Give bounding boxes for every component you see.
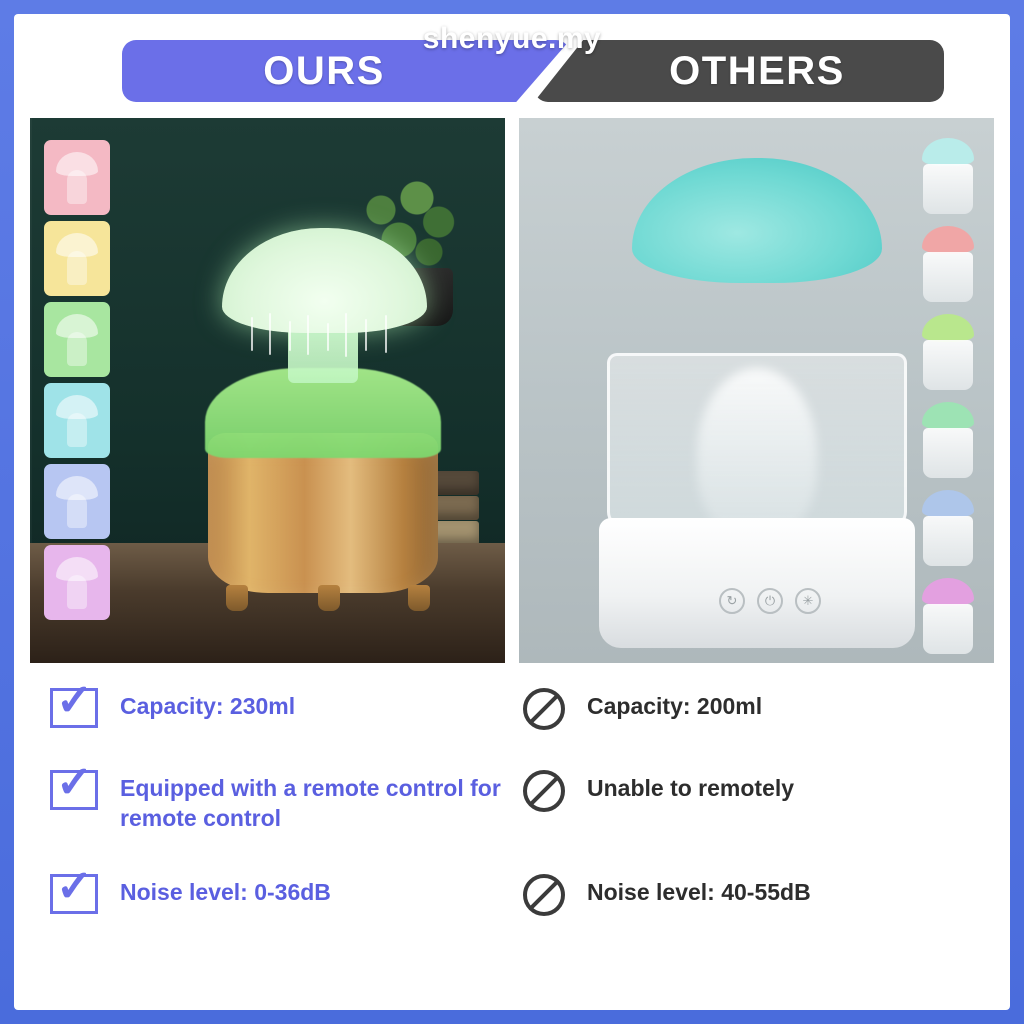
watermark-text: shenyue.my <box>423 22 601 56</box>
others-feature-3: Noise level: 40-55dB <box>501 872 974 916</box>
mini-unit-mint <box>912 402 984 482</box>
others-button-power-icon: ⏻ <box>757 588 783 614</box>
comparison-row: ✓ Equipped with a remote control for rem… <box>50 768 974 834</box>
ours-color-swatches <box>44 140 110 620</box>
base-foot-left <box>226 585 248 611</box>
comparison-card: OURS OTHERS shenyue.my <box>14 14 1010 1010</box>
others-feature-2: Unable to remotely <box>501 768 974 834</box>
others-color-swatches <box>912 138 984 658</box>
ours-feature-3: ✓ Noise level: 0-36dB <box>50 872 501 916</box>
others-base <box>599 518 915 648</box>
others-feature-1: Capacity: 200ml <box>501 686 974 730</box>
others-water-tank <box>607 353 907 528</box>
mini-unit-blue <box>912 490 984 570</box>
ban-icon <box>523 874 565 916</box>
ban-icon <box>523 688 565 730</box>
swatch-purple <box>44 545 110 620</box>
ours-feature-2: ✓ Equipped with a remote control for rem… <box>50 768 501 834</box>
swatch-cyan <box>44 383 110 458</box>
page-root: OURS OTHERS shenyue.my <box>0 0 1024 1024</box>
ours-product-photo <box>30 118 505 663</box>
mini-unit-lime <box>912 314 984 394</box>
ours-banner-label: OURS <box>263 49 385 94</box>
others-feature-2-label: Unable to remotely <box>587 768 794 803</box>
ours-feature-1: ✓ Capacity: 230ml <box>50 686 501 730</box>
mini-unit-cyan <box>912 138 984 218</box>
comparison-row: ✓ Capacity: 230ml Capacity: 200ml <box>50 686 974 730</box>
swatch-yellow <box>44 221 110 296</box>
photo-row: ↻ ⏻ ✳ <box>20 118 1004 663</box>
mini-unit-magenta <box>912 578 984 658</box>
ours-feature-2-label: Equipped with a remote control for remot… <box>120 768 501 834</box>
comparison-row: ✓ Noise level: 0-36dB Noise level: 40-55… <box>50 872 974 916</box>
rain-drops <box>245 313 405 373</box>
base-foot-right <box>408 585 430 611</box>
mini-unit-red <box>912 226 984 306</box>
check-icon: ✓ <box>50 770 98 810</box>
ours-feature-3-label: Noise level: 0-36dB <box>120 872 331 907</box>
others-cloud-cap <box>632 158 882 283</box>
check-icon: ✓ <box>50 688 98 728</box>
others-button-light-icon: ✳ <box>795 588 821 614</box>
others-button-mist-icon: ↻ <box>719 588 745 614</box>
others-banner-label: OTHERS <box>669 49 845 94</box>
ban-icon <box>523 770 565 812</box>
check-icon: ✓ <box>50 874 98 914</box>
swatch-green <box>44 302 110 377</box>
ours-feature-1-label: Capacity: 230ml <box>120 686 295 721</box>
swatch-pink <box>44 140 110 215</box>
others-product-photo: ↻ ⏻ ✳ <box>519 118 994 663</box>
base-foot-center <box>318 585 340 611</box>
swatch-blue <box>44 464 110 539</box>
others-feature-1-label: Capacity: 200ml <box>587 686 762 721</box>
comparison-list: ✓ Capacity: 230ml Capacity: 200ml ✓ Equi… <box>20 686 1004 954</box>
others-feature-3-label: Noise level: 40-55dB <box>587 872 811 907</box>
